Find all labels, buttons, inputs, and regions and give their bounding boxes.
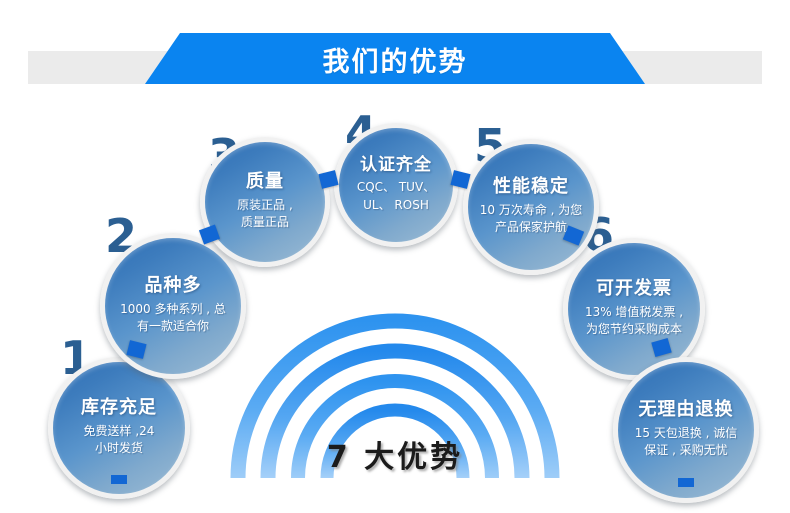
advantage-title-5: 性能稳定 xyxy=(493,177,569,197)
advantage-bubble-2[interactable]: 品种多 1000 多种系列 , 总 有一款适合你 xyxy=(100,233,246,379)
advantage-title-4: 认证齐全 xyxy=(360,156,432,175)
advantage-desc-2: 1000 多种系列 , 总 有一款适合你 xyxy=(111,301,235,336)
advantage-desc-1: 免费送样 ,24 小时发货 xyxy=(75,423,164,458)
advantage-title-7: 无理由退换 xyxy=(639,400,734,420)
advantage-bubble-4[interactable]: 认证齐全 CQC、 TUV、 UL、 ROSH xyxy=(334,123,458,247)
advantage-bubble-3[interactable]: 质量 原装正品 , 质量正品 xyxy=(200,137,330,267)
advantage-title-6: 可开发票 xyxy=(596,279,672,299)
advantage-desc-7: 15 天包退换 , 诚信 保证 , 采购无忧 xyxy=(626,425,747,460)
advantage-desc-4: CQC、 TUV、 UL、 ROSH xyxy=(348,179,444,214)
connector-cap-7 xyxy=(678,478,694,487)
page-title: 我们的优势 xyxy=(0,33,790,85)
advantage-title-2: 品种多 xyxy=(145,276,202,296)
connector-cap-1 xyxy=(111,475,127,484)
advantage-bubble-5[interactable]: 性能稳定 10 万次寿命 , 为您 产品保家护航 xyxy=(463,139,599,275)
advantage-title-1: 库存充足 xyxy=(81,398,157,418)
advantages-infographic: 我们的优势 7 大优势 1 2 3 4 5 6 7 库存 xyxy=(0,0,790,513)
advantage-title-3: 质量 xyxy=(246,172,284,192)
advantage-desc-3: 原装正品 , 质量正品 xyxy=(228,197,302,232)
advantage-desc-6: 13% 增值税发票 , 为您节约采购成本 xyxy=(576,304,692,339)
